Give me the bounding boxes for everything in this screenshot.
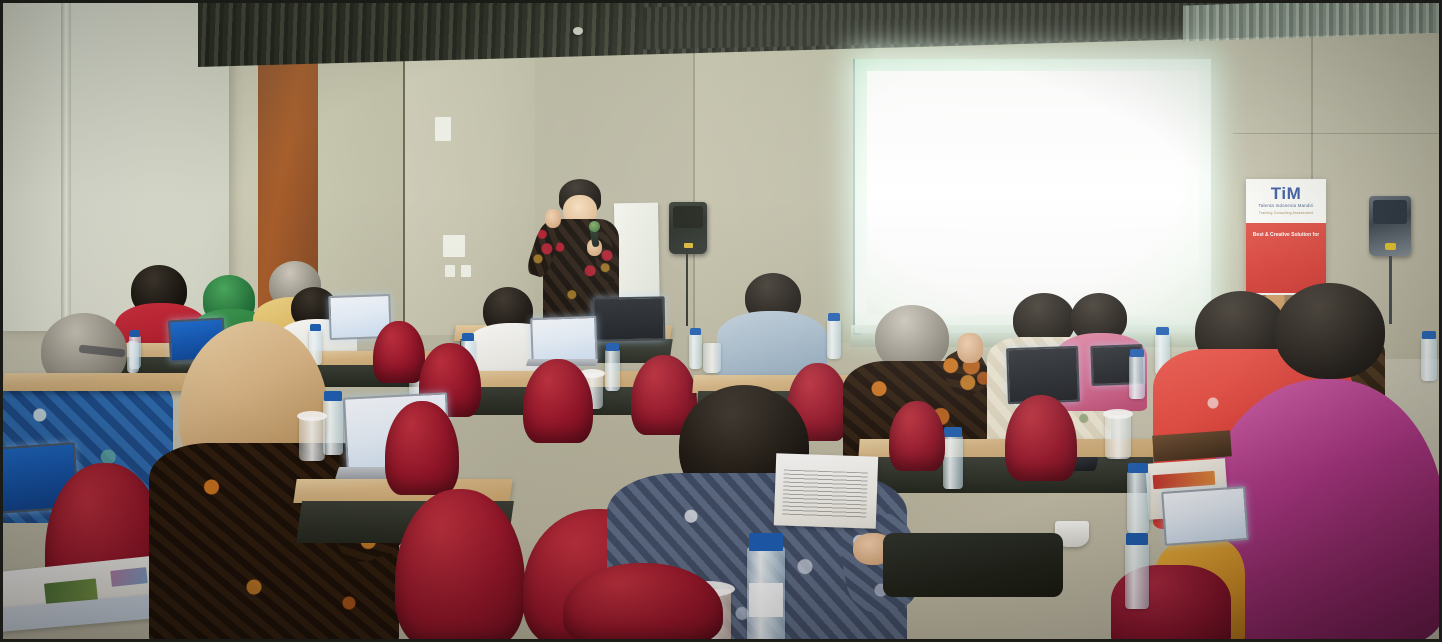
scene-caption: Conference seminar room with presenter a…: [3, 638, 1442, 639]
bottle-cap-fg-4: [1126, 533, 1148, 545]
banner-subtitle-secondary: Training Consulting Assessment: [1246, 211, 1326, 215]
laptop-fg-right[interactable]: [1161, 486, 1249, 546]
drinking-glass-right-1[interactable]: [1105, 415, 1131, 459]
water-bottle-mid-3[interactable]: [827, 319, 841, 359]
bottle-cap-right-4: [1422, 331, 1436, 339]
microphone-head-icon: [589, 221, 600, 232]
banner-subtitle: Talenta Indonesia Mandiri: [1246, 203, 1326, 208]
bottle-cap-mid-3: [828, 313, 840, 321]
wall-seam-2: [1233, 133, 1442, 134]
drinking-glass-top-fg-1: [297, 411, 327, 421]
pa-speaker-right-stand: [1389, 256, 1392, 324]
pa-speaker-left-grille: [673, 206, 703, 228]
bottle-cap-mid-2: [606, 343, 619, 351]
pa-speaker-left-badge: [684, 243, 693, 248]
light-switch-a[interactable]: [445, 265, 455, 277]
bottle-cap-mid-1: [462, 333, 474, 341]
bottle-cap-right-2: [1130, 349, 1144, 357]
door-sign-plate: [443, 235, 465, 257]
bottle-cap-right-1: [944, 427, 962, 437]
participant-hand-gesturing: [957, 333, 983, 363]
book-stack[interactable]: [1152, 430, 1232, 461]
reading-document-text: [782, 470, 868, 519]
bottle-cap-fg-3: [1128, 463, 1148, 473]
pa-speaker-right-grille: [1373, 200, 1407, 224]
projection-screen: [867, 71, 1199, 315]
pa-speaker-right-badge: [1385, 243, 1396, 250]
water-bottle-fg-3[interactable]: [1127, 471, 1149, 533]
presenter-hand-left: [545, 209, 561, 228]
chair-mid-1[interactable]: [373, 321, 425, 383]
water-bottle-mid-2[interactable]: [605, 349, 620, 391]
water-bottle-right-2[interactable]: [1129, 355, 1145, 399]
bottle-cap-right-3: [1156, 327, 1169, 335]
folding-partition-left: [0, 1, 229, 331]
bottle-cap-mid-4: [690, 328, 701, 335]
water-bottle-right-4[interactable]: [1421, 337, 1437, 381]
banner-tagline: Best & Creative Solution for: [1246, 231, 1326, 240]
wall-seam-3: [693, 29, 695, 339]
bottle-label-fg-2: [749, 583, 783, 617]
chair-right-2[interactable]: [889, 401, 945, 471]
banner-logo-text: TiM: [1246, 184, 1326, 204]
light-switch-b[interactable]: [461, 265, 471, 277]
water-bottle-right-1[interactable]: [943, 435, 963, 489]
drinking-glass-mid-3[interactable]: [703, 343, 721, 373]
laptop-bag: [883, 533, 1063, 597]
door-handle[interactable]: [435, 117, 451, 141]
bottle-cap-fg-2: [749, 533, 783, 551]
bottle-cap-bg-1: [130, 330, 140, 337]
water-bottle-fg-1[interactable]: [323, 399, 343, 455]
table-fg-left: [1, 373, 204, 391]
seminar-room-photograph: TiM Talenta Indonesia Mandiri Training C…: [0, 0, 1442, 642]
laptop-presenter[interactable]: [593, 296, 666, 341]
water-bottle-mid-4[interactable]: [689, 333, 702, 369]
drinking-glass-top-right-1: [1103, 409, 1133, 419]
smoke-detector-icon: [573, 27, 583, 35]
water-bottle-fg-4[interactable]: [1125, 543, 1149, 609]
pa-speaker-left-stand: [686, 254, 688, 326]
bottle-cap-fg-1: [324, 391, 342, 401]
water-bottle-bg-3[interactable]: [127, 341, 139, 373]
participant-head-magenta-hijab: [1275, 283, 1385, 379]
drinking-glass-fg-1[interactable]: [299, 417, 325, 461]
bottle-cap-bg-2: [310, 324, 321, 331]
partition-seam: [61, 1, 71, 333]
